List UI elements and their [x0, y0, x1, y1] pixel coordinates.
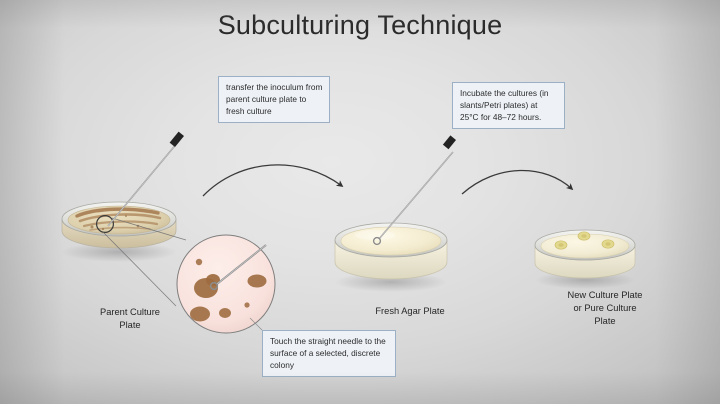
arrow-parent-to-fresh — [203, 165, 342, 196]
arrow-fresh-to-new — [462, 170, 572, 194]
callout-transfer-inoculum: transfer the inoculum from parent cultur… — [218, 76, 330, 123]
label-new-culture-plate: New Culture Plate or Pure Culture Plate — [526, 289, 684, 327]
petri-dish-fresh — [335, 223, 447, 292]
label-parent-culture-plate: Parent Culture Plate — [62, 306, 198, 332]
slide-canvas: Subculturing Technique — [0, 0, 720, 404]
label-fresh-agar-plate: Fresh Agar Plate — [336, 305, 484, 318]
petri-dish-new — [535, 230, 635, 289]
callout-touch-needle: Touch the straight needle to the surface… — [262, 330, 396, 377]
callout-incubate-cultures: Incubate the cultures (in slants/Petri p… — [452, 82, 565, 129]
